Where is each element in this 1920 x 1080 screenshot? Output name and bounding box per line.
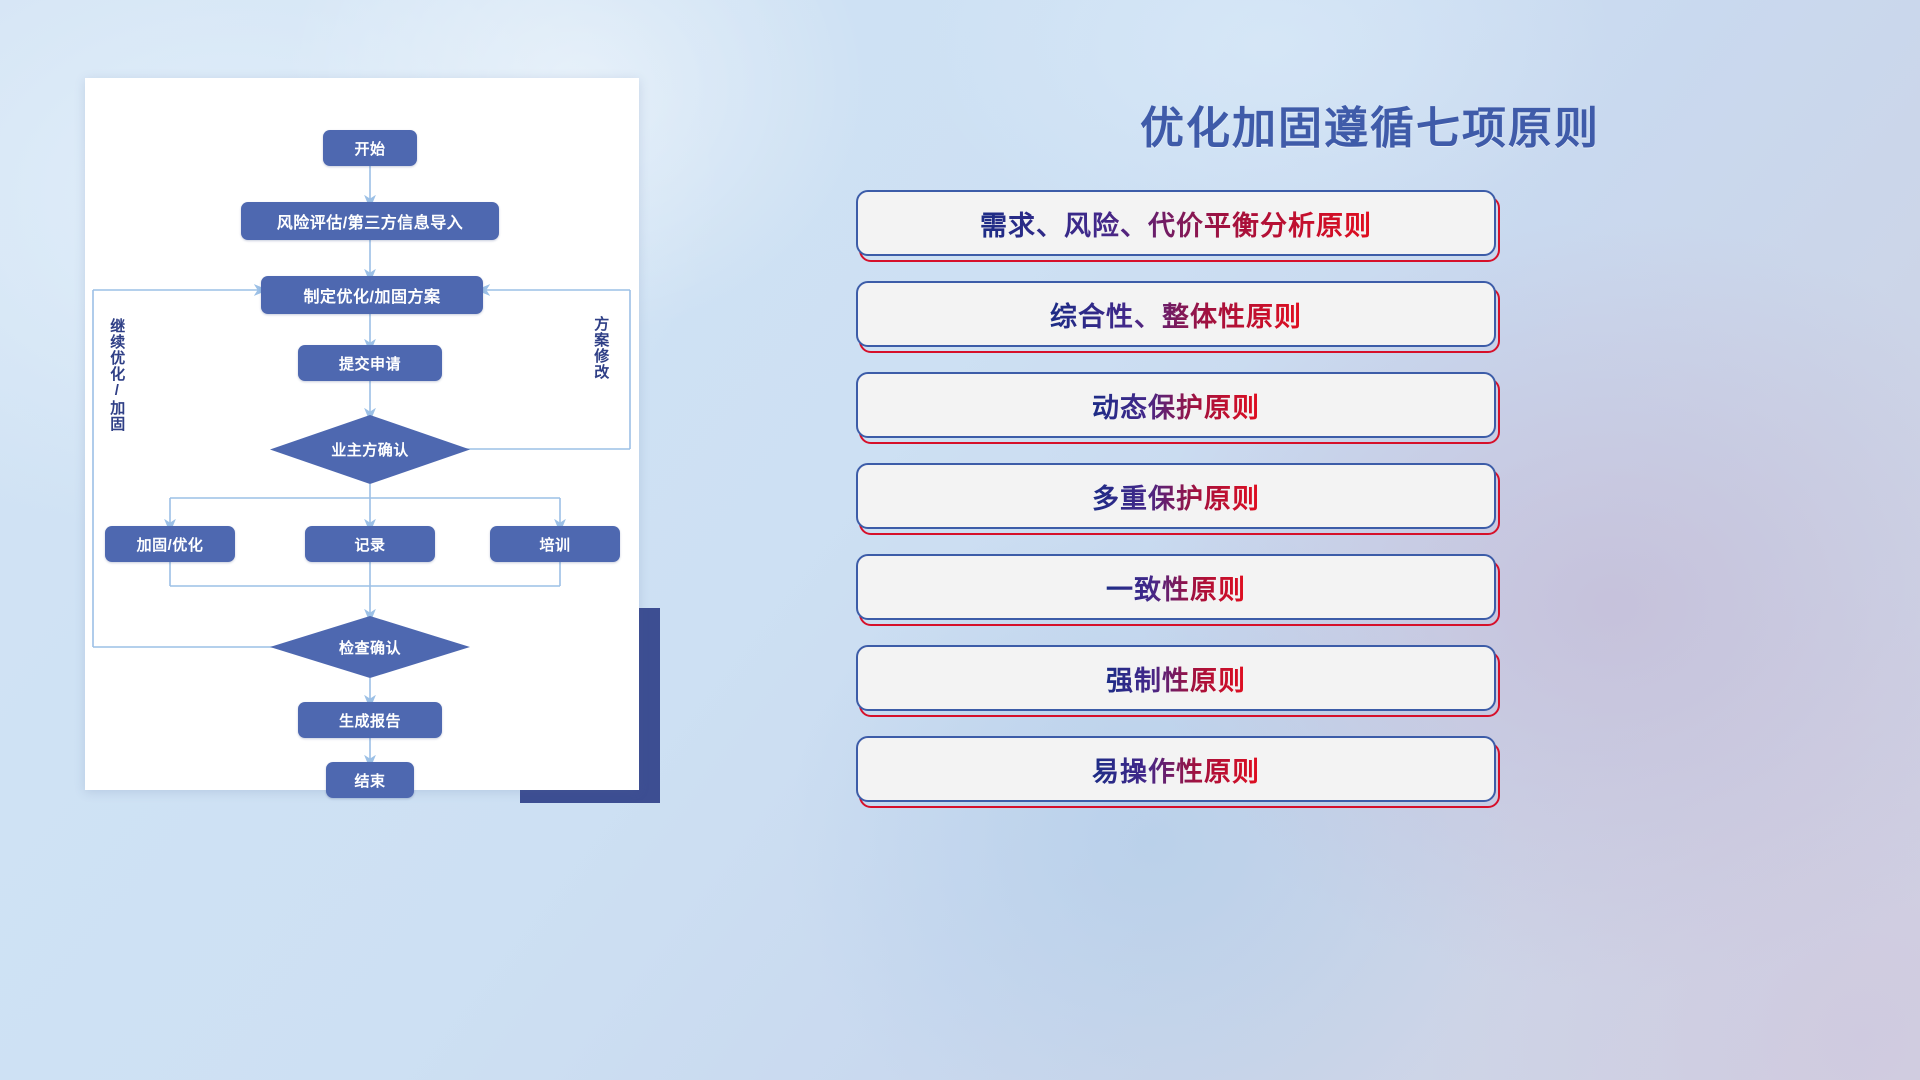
flow-node-label: 生成报告 xyxy=(339,710,401,731)
principle-label: 多重保护原则 xyxy=(1092,477,1260,516)
principle-label: 强制性原则 xyxy=(1106,659,1246,698)
flow-node-generate-report[interactable]: 生成报告 xyxy=(298,702,442,738)
flow-node-end[interactable]: 结束 xyxy=(326,762,414,798)
card-face: 强制性原则 xyxy=(856,645,1496,711)
flow-node-submit-application[interactable]: 提交申请 xyxy=(298,345,442,381)
card-face: 需求、风险、代价平衡分析原则 xyxy=(856,190,1496,256)
flow-node-reinforce[interactable]: 加固/优化 xyxy=(105,526,235,562)
flow-edge-label-continue-optimize: 继续优化/加固 xyxy=(109,318,124,458)
flow-node-label: 制定优化/加固方案 xyxy=(304,283,441,307)
flow-edge-label-plan-revision: 方案修改 xyxy=(593,316,608,426)
principle-label: 一致性原则 xyxy=(1106,568,1246,607)
flow-node-plan[interactable]: 制定优化/加固方案 xyxy=(261,276,483,314)
principle-label: 动态保护原则 xyxy=(1092,386,1260,425)
flow-node-risk-assessment[interactable]: 风险评估/第三方信息导入 xyxy=(241,202,499,240)
card-face: 综合性、整体性原则 xyxy=(856,281,1496,347)
principle-label: 综合性、整体性原则 xyxy=(1050,295,1302,334)
flow-node-owner-confirm[interactable]: 业主方确认 xyxy=(270,415,470,484)
principle-card-3[interactable]: 动态保护原则 xyxy=(856,372,1496,438)
flow-node-label: 记录 xyxy=(354,534,385,555)
card-face: 一致性原则 xyxy=(856,554,1496,620)
card-face: 动态保护原则 xyxy=(856,372,1496,438)
page-title: 优化加固遵循七项原则 xyxy=(940,92,1800,156)
flow-node-start[interactable]: 开始 xyxy=(323,130,417,166)
flow-node-label: 检查确认 xyxy=(339,637,401,658)
principle-label: 易操作性原则 xyxy=(1092,750,1260,789)
card-face: 多重保护原则 xyxy=(856,463,1496,529)
flow-node-label: 风险评估/第三方信息导入 xyxy=(277,209,463,233)
principle-card-5[interactable]: 一致性原则 xyxy=(856,554,1496,620)
principle-card-4[interactable]: 多重保护原则 xyxy=(856,463,1496,529)
flow-node-label: 开始 xyxy=(354,138,385,159)
flow-node-label: 业主方确认 xyxy=(331,439,409,460)
principle-card-6[interactable]: 强制性原则 xyxy=(856,645,1496,711)
principle-card-7[interactable]: 易操作性原则 xyxy=(856,736,1496,802)
flowchart-card: 开始 风险评估/第三方信息导入 制定优化/加固方案 提交申请 业主方确认 加固/… xyxy=(85,78,639,790)
flow-node-label: 培训 xyxy=(539,534,570,555)
card-face: 易操作性原则 xyxy=(856,736,1496,802)
flow-node-label: 提交申请 xyxy=(339,353,401,374)
flow-node-inspection-confirm[interactable]: 检查确认 xyxy=(270,616,470,678)
flow-node-record[interactable]: 记录 xyxy=(305,526,435,562)
principles-panel: 优化加固遵循七项原则 需求、风险、代价平衡分析原则 综合性、整体性原则 动态保护… xyxy=(820,0,1920,1080)
principle-label: 需求、风险、代价平衡分析原则 xyxy=(980,204,1372,243)
flow-node-label: 加固/优化 xyxy=(137,534,204,555)
flow-node-training[interactable]: 培训 xyxy=(490,526,620,562)
principle-card-1[interactable]: 需求、风险、代价平衡分析原则 xyxy=(856,190,1496,256)
flow-node-label: 结束 xyxy=(354,770,385,791)
principles-list: 需求、风险、代价平衡分析原则 综合性、整体性原则 动态保护原则 多重保护原则 一 xyxy=(838,190,1898,827)
principle-card-2[interactable]: 综合性、整体性原则 xyxy=(856,281,1496,347)
